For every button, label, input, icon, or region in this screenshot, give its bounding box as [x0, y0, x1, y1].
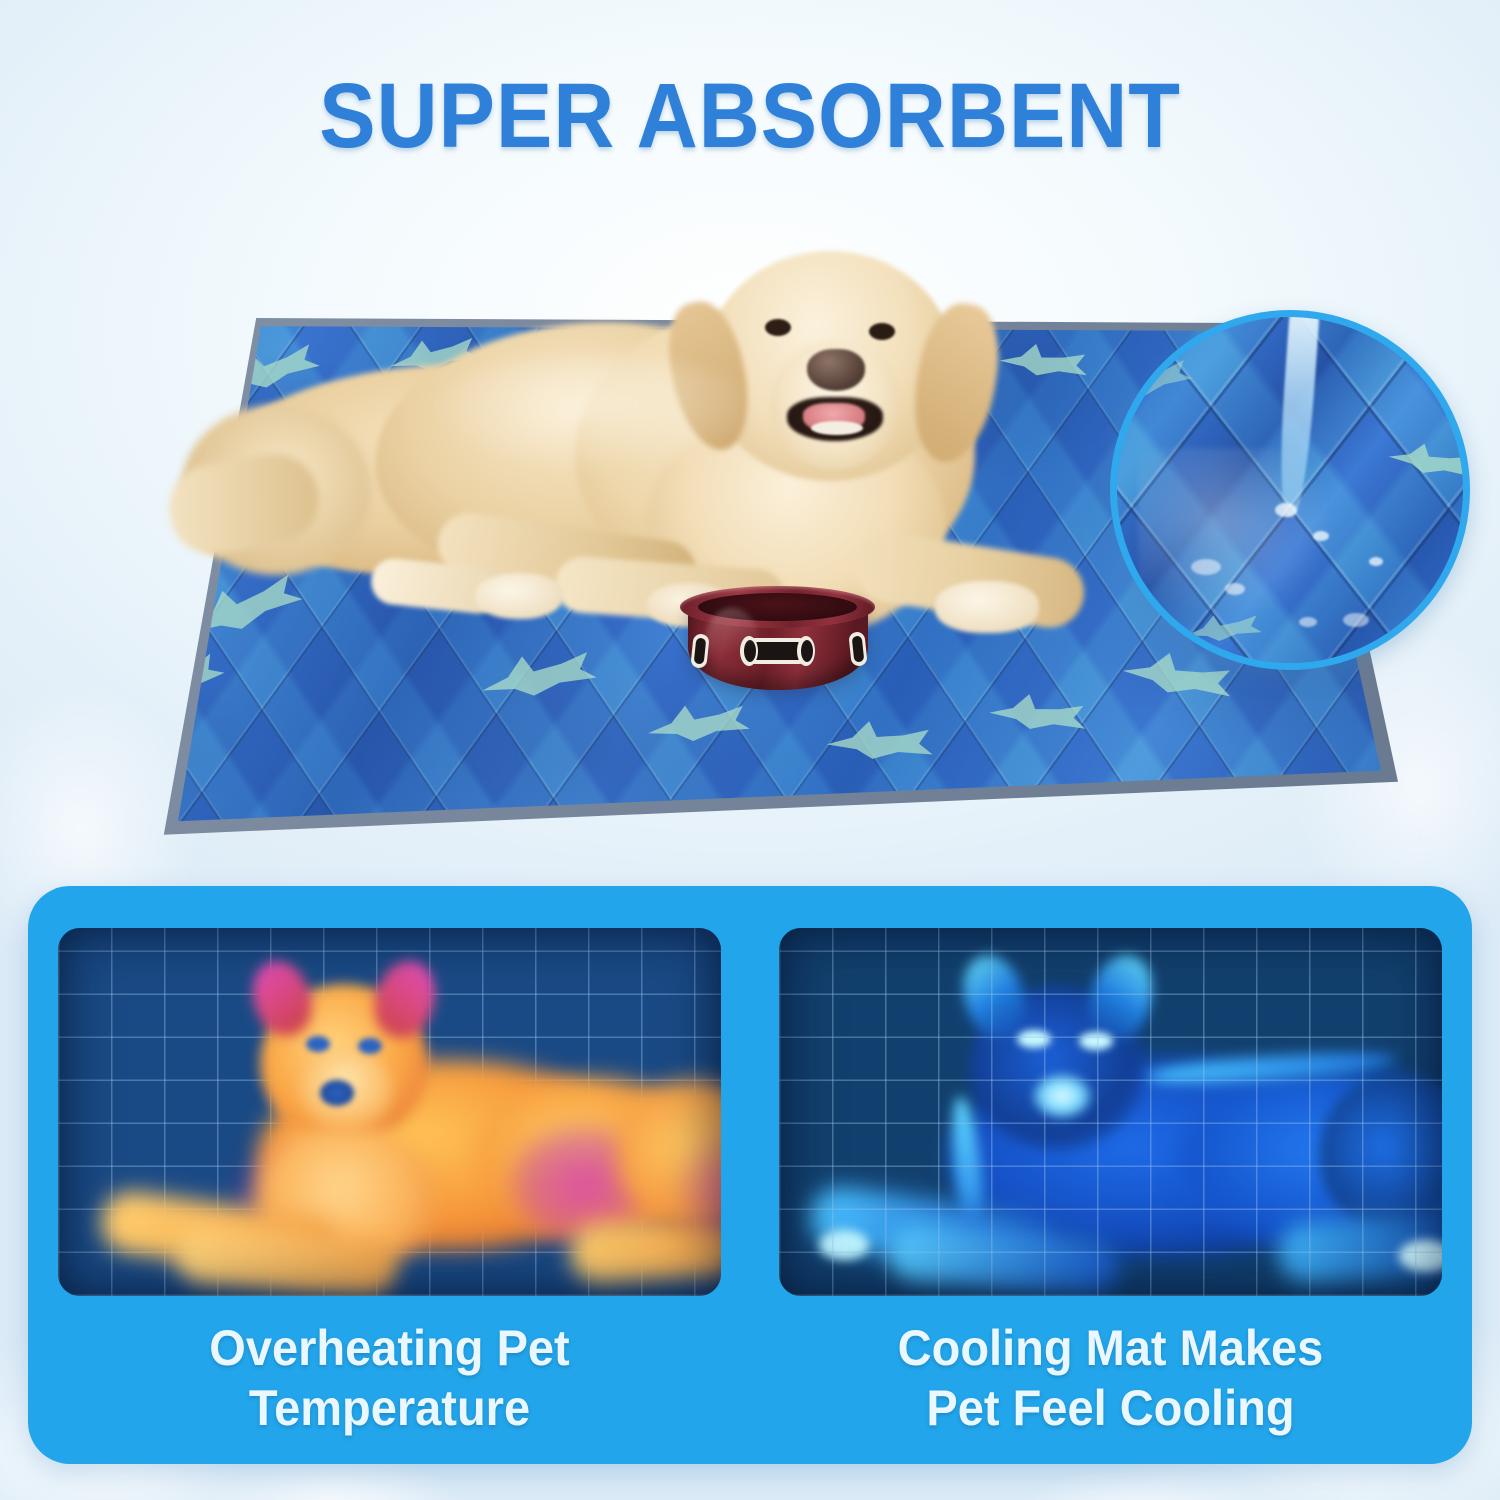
- caption-line-2: Temperature: [78, 1378, 701, 1438]
- caption-line-1: Overheating Pet: [78, 1318, 701, 1378]
- dog-bowl: [680, 580, 875, 695]
- golden-retriever-photo: [175, 245, 1015, 675]
- water-droplet: [1313, 531, 1329, 541]
- water-droplet: [1225, 583, 1245, 595]
- caption-line-2: Pet Feel Cooling: [799, 1378, 1422, 1438]
- caption-row: Overheating Pet Temperature Cooling Mat …: [58, 1318, 1442, 1448]
- thermal-vignette: [779, 928, 1442, 1296]
- thermal-card-row: [58, 928, 1442, 1296]
- thermal-vignette: [58, 928, 721, 1296]
- wet-patch: [1138, 448, 1339, 628]
- thermal-card-overheating[interactable]: [58, 928, 721, 1296]
- water-droplet: [1299, 617, 1317, 627]
- thermal-card-cooled[interactable]: [779, 928, 1442, 1296]
- product-infographic: SUPER ABSORBENT: [0, 0, 1500, 1500]
- dog-nose: [807, 349, 865, 391]
- caption-cooled: Cooling Mat Makes Pet Feel Cooling: [799, 1318, 1422, 1448]
- hero-product-section: [0, 170, 1500, 890]
- dog-paw: [935, 581, 1039, 633]
- page-title: SUPER ABSORBENT: [60, 68, 1440, 164]
- water-droplet: [1191, 559, 1221, 575]
- dog-eye-left: [765, 319, 791, 336]
- water-absorption-closeup: [1110, 310, 1470, 670]
- comparison-panel: Overheating Pet Temperature Cooling Mat …: [28, 886, 1472, 1464]
- water-droplet: [1369, 557, 1383, 566]
- dog-paw: [475, 573, 563, 619]
- caption-overheating: Overheating Pet Temperature: [78, 1318, 701, 1448]
- water-droplet: [1275, 503, 1297, 517]
- caption-line-1: Cooling Mat Makes: [799, 1318, 1422, 1378]
- dog-eye-right: [869, 323, 895, 340]
- water-droplet: [1343, 613, 1369, 627]
